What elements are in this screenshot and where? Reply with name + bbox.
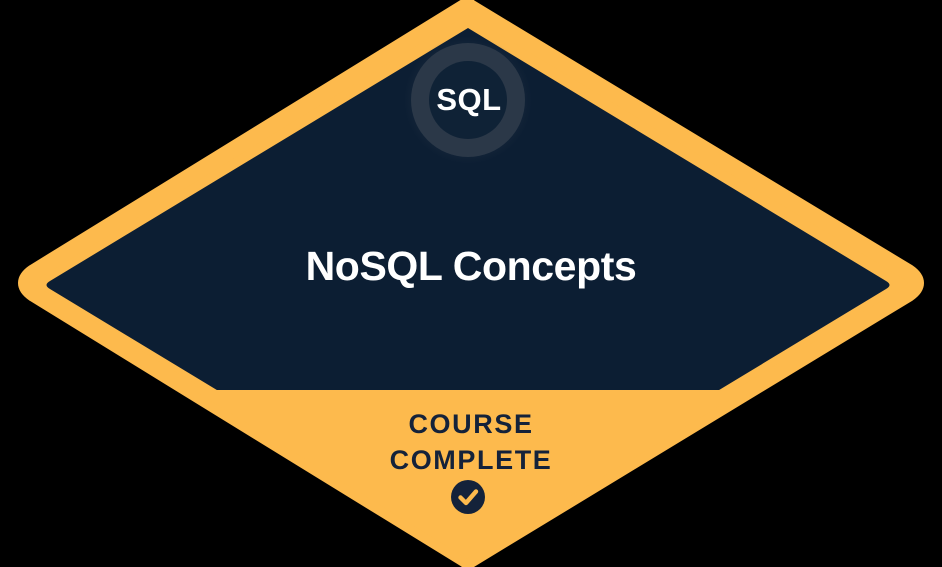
check-circle-icon: [451, 480, 485, 514]
course-completion-badge[interactable]: SQL NoSQL Concepts COURSE COMPLETE: [0, 0, 942, 567]
sql-ring-icon: [404, 36, 532, 164]
badge-graphic: [0, 0, 942, 567]
